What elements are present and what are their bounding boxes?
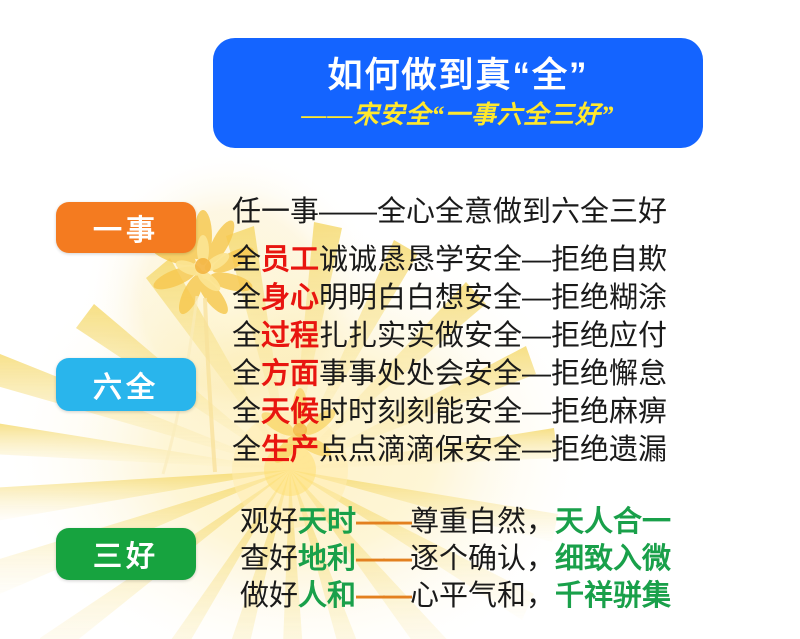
sanhao-row: 查好地利——逐个确认，细致入微 [240, 545, 671, 574]
sanhao-row-keyword: 人和 [298, 580, 356, 612]
liuquan-row: 全员工诚诚恳恳学安全—拒绝自欺 [232, 246, 667, 275]
sanhao-row-middle: 逐个确认， [410, 543, 555, 575]
liuquan-row: 全过程扎扎实实做安全—拒绝应付 [232, 322, 667, 351]
liuquan-row-keyword: 方面 [261, 358, 319, 390]
sanhao-row-prefix: 查好 [240, 543, 298, 575]
section-chip-sanhao-label: 三好 [93, 533, 159, 575]
sanhao-row-tail: 千祥骈集 [555, 580, 671, 612]
sanhao-row-prefix: 观好 [240, 506, 298, 538]
liuquan-row-rest: 点点滴滴保安全—拒绝遗漏 [319, 434, 667, 466]
sanhao-row-prefix: 做好 [240, 580, 298, 612]
sanhao-row: 做好人和——心平气和，千祥骈集 [240, 582, 671, 611]
liuquan-row-rest: 明明白白想安全—拒绝糊涂 [319, 282, 667, 314]
page-subtitle: ——宋安全“一事六全三好” [301, 102, 614, 130]
liuquan-row: 全方面事事处处会安全—拒绝懈怠 [232, 360, 667, 389]
sanhao-row-tail: 天人合一 [555, 506, 671, 538]
liuquan-row-keyword: 身心 [261, 282, 319, 314]
sanhao-row: 观好天时——尊重自然，天人合一 [240, 508, 671, 537]
liuquan-row: 全天候时时刻刻能安全—拒绝麻痹 [232, 398, 667, 427]
yishi-line-text: 任一事——全心全意做到六全三好 [232, 196, 667, 228]
liuquan-row: 全生产点点滴滴保安全—拒绝遗漏 [232, 436, 667, 465]
title-banner: 如何做到真“全” ——宋安全“一事六全三好” [213, 38, 703, 148]
page-title: 如何做到真“全” [327, 57, 588, 96]
liuquan-row-prefix: 全 [232, 434, 261, 466]
sanhao-row-middle: 尊重自然， [410, 506, 555, 538]
sanhao-block: 观好天时——尊重自然，天人合一 查好地利——逐个确认，细致入微 做好人和——心平… [240, 508, 671, 619]
sanhao-row-dash: —— [356, 543, 410, 575]
liuquan-row-keyword: 天候 [261, 396, 319, 428]
liuquan-row-rest: 时时刻刻能安全—拒绝麻痹 [319, 396, 667, 428]
sanhao-row-keyword: 地利 [298, 543, 356, 575]
section-chip-yishi: 一事 [56, 202, 196, 253]
liuquan-row-prefix: 全 [232, 244, 261, 276]
liuquan-row-rest: 事事处处会安全—拒绝懈怠 [319, 358, 667, 390]
liuquan-row-keyword: 过程 [261, 320, 319, 352]
liuquan-row-prefix: 全 [232, 320, 261, 352]
liuquan-block: 全员工诚诚恳恳学安全—拒绝自欺 全身心明明白白想安全—拒绝糊涂 全过程扎扎实实做… [232, 246, 667, 474]
sanhao-row-tail: 细致入微 [555, 543, 671, 575]
liuquan-row-keyword: 生产 [261, 434, 319, 466]
liuquan-row-keyword: 员工 [261, 244, 319, 276]
section-chip-yishi-label: 一事 [93, 207, 159, 249]
sanhao-row-middle: 心平气和， [410, 580, 555, 612]
section-chip-sanhao: 三好 [56, 528, 196, 580]
yishi-line: 任一事——全心全意做到六全三好 [232, 198, 667, 227]
section-chip-liuquan: 六全 [56, 358, 196, 411]
sanhao-row-dash: —— [356, 580, 410, 612]
sanhao-row-keyword: 天时 [298, 506, 356, 538]
poster-canvas: 如何做到真“全” ——宋安全“一事六全三好” 一事 六全 三好 任一事——全心全… [0, 0, 800, 639]
sanhao-row-dash: —— [356, 506, 410, 538]
liuquan-row-rest: 诚诚恳恳学安全—拒绝自欺 [319, 244, 667, 276]
liuquan-row-prefix: 全 [232, 358, 261, 390]
liuquan-row: 全身心明明白白想安全—拒绝糊涂 [232, 284, 667, 313]
liuquan-row-prefix: 全 [232, 282, 261, 314]
section-chip-liuquan-label: 六全 [93, 364, 159, 406]
liuquan-row-rest: 扎扎实实做安全—拒绝应付 [319, 320, 667, 352]
liuquan-row-prefix: 全 [232, 396, 261, 428]
yishi-block: 任一事——全心全意做到六全三好 [232, 198, 667, 227]
